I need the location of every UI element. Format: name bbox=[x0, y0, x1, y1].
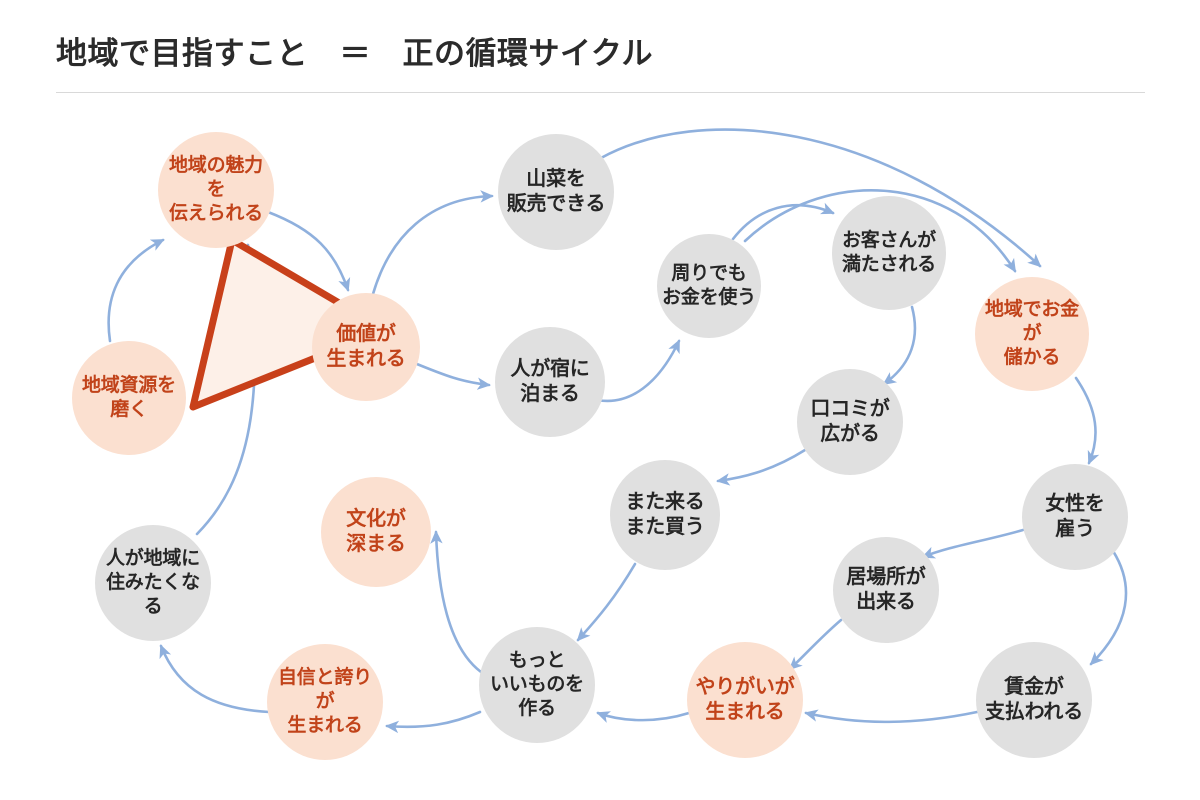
node-label: 人が地域に 住みたくなる bbox=[95, 547, 211, 619]
node-label: 賃金が 支払われる bbox=[983, 675, 1085, 725]
node-hito-yado[interactable]: 人が宿に 泊まる bbox=[495, 327, 605, 437]
edge-chiiki-shigen-to-chiiki-miryoku bbox=[109, 240, 163, 341]
node-label: 地域資源を 磨く bbox=[80, 374, 178, 422]
edge-mawari-okane-to-okyakusan bbox=[733, 205, 833, 239]
edge-josei-yatou-to-ibasho bbox=[923, 530, 1023, 557]
edge-chiiki-okane-to-josei-yatou bbox=[1076, 378, 1096, 463]
node-yarigai[interactable]: やりがいが 生まれる bbox=[687, 642, 803, 758]
node-motto-ii[interactable]: もっと いいものを 作る bbox=[479, 627, 595, 743]
node-mata-kuru[interactable]: また来る また買う bbox=[610, 460, 720, 570]
node-chiiki-miryoku[interactable]: 地域の魅力を 伝えられる bbox=[158, 132, 274, 248]
node-jishin-hokori[interactable]: 自信と誇りが 生まれる bbox=[267, 644, 383, 760]
node-label: 地域でお金が 儲かる bbox=[975, 298, 1089, 370]
node-bunka-fukamaru[interactable]: 文化が 深まる bbox=[321, 477, 431, 587]
node-label: 女性を 雇う bbox=[1043, 492, 1106, 542]
node-label: もっと いいものを 作る bbox=[488, 649, 586, 721]
edge-josei-yatou-to-chingin bbox=[1091, 551, 1126, 664]
node-mawari-okane[interactable]: 周りでも お金を使う bbox=[657, 234, 761, 338]
edge-jishin-hokori-to-hito-sumitaku bbox=[161, 646, 269, 712]
node-label: やりがいが 生まれる bbox=[694, 675, 797, 725]
node-label: お客さんが 満たされる bbox=[840, 229, 938, 277]
node-okyakusan[interactable]: お客さんが 満たされる bbox=[832, 196, 946, 310]
edge-mata-kuru-to-motto-ii bbox=[578, 564, 635, 640]
node-label: 地域の魅力を 伝えられる bbox=[158, 154, 274, 226]
node-sansai-hanbai[interactable]: 山菜を 販売できる bbox=[498, 134, 614, 250]
node-kachi-umareru[interactable]: 価値が 生まれる bbox=[312, 293, 420, 401]
node-chingin[interactable]: 賃金が 支払われる bbox=[976, 642, 1092, 758]
node-ibasho[interactable]: 居場所が 出来る bbox=[833, 537, 939, 643]
node-label: また来る また買う bbox=[623, 490, 706, 540]
node-label: 価値が 生まれる bbox=[324, 322, 407, 372]
node-chiiki-okane[interactable]: 地域でお金が 儲かる bbox=[975, 277, 1089, 391]
node-label: 山菜を 販売できる bbox=[505, 167, 608, 217]
edge-motto-ii-to-jishin-hokori bbox=[387, 712, 480, 727]
node-label: 口コミが 広がる bbox=[808, 397, 891, 447]
node-chiiki-shigen[interactable]: 地域資源を 磨く bbox=[72, 341, 186, 455]
edge-kachi-umareru-to-sansai-hanbai bbox=[373, 196, 492, 294]
edge-ibasho-to-yarigai bbox=[790, 620, 841, 669]
edge-hito-yado-to-mawari-okane bbox=[597, 341, 679, 401]
edge-kuchikomi-to-mata-kuru bbox=[718, 450, 805, 481]
node-label: 人が宿に 泊まる bbox=[508, 357, 591, 407]
slide-canvas: 地域で目指すこと ＝ 正の循環サイクル bbox=[0, 0, 1200, 800]
node-label: 周りでも お金を使う bbox=[660, 262, 758, 310]
edge-motto-ii-to-bunka-fukamaru bbox=[436, 532, 481, 672]
node-josei-yatou[interactable]: 女性を 雇う bbox=[1022, 464, 1128, 570]
edge-okyakusan-to-kuchikomi bbox=[884, 307, 915, 384]
node-label: 居場所が 出来る bbox=[844, 565, 927, 615]
edge-chingin-to-yarigai bbox=[806, 712, 977, 722]
node-label: 文化が 深まる bbox=[344, 507, 407, 557]
edge-yarigai-to-motto-ii bbox=[598, 713, 689, 720]
edge-kachi-umareru-to-hito-yado bbox=[412, 362, 489, 385]
node-kuchikomi[interactable]: 口コミが 広がる bbox=[797, 369, 903, 475]
node-label: 自信と誇りが 生まれる bbox=[267, 666, 383, 738]
node-hito-sumitaku[interactable]: 人が地域に 住みたくなる bbox=[95, 525, 211, 641]
